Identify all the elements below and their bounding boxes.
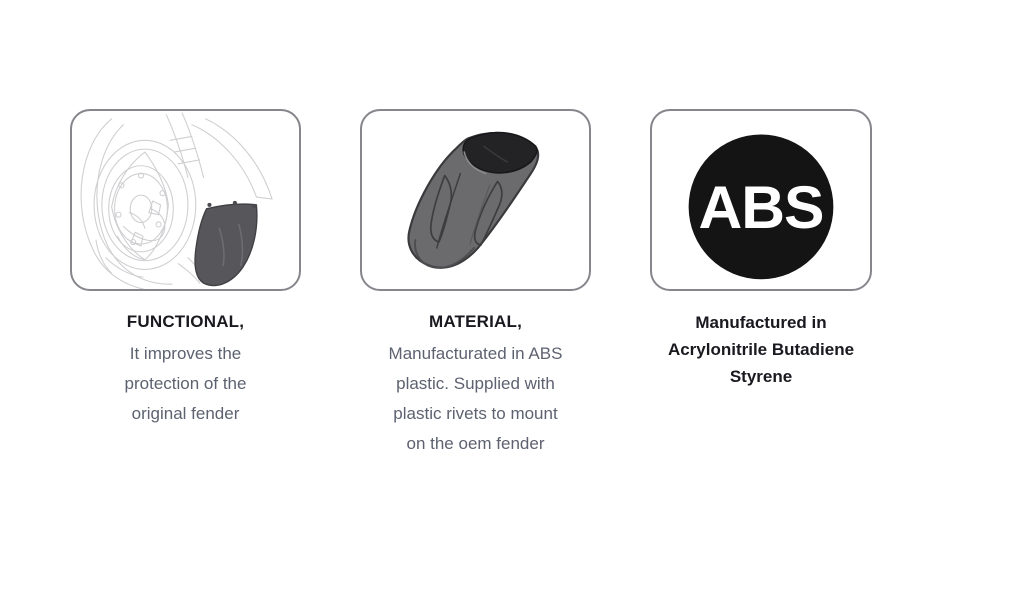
feature-caption: MATERIAL, Manufacturated in ABS plastic.… <box>360 309 591 459</box>
feature-body-line: protection of the <box>70 369 301 399</box>
feature-caption: Manufactured in Acrylonitrile Butadiene … <box>650 309 872 390</box>
feature-body-line: on the oem fender <box>360 429 591 459</box>
product-feature-panel: FUNCTIONAL, It improves the protection o… <box>0 0 1024 614</box>
fender-extender-product-photo-icon <box>362 111 589 289</box>
feature-image-card: ABS <box>650 109 872 291</box>
feature-body-line: Styrene <box>650 363 872 390</box>
feature-title: MATERIAL, <box>360 309 591 334</box>
feature-body-line: Manufacturated in ABS <box>360 339 591 369</box>
feature-body-line: It improves the <box>70 339 301 369</box>
feature-body: Manufacturated in ABS plastic. Supplied … <box>360 339 591 459</box>
abs-badge-text: ABS <box>698 173 823 241</box>
feature-image-card <box>70 109 301 291</box>
feature-body-line: Manufactured in <box>650 309 872 336</box>
feature-caption: FUNCTIONAL, It improves the protection o… <box>70 309 301 429</box>
feature-body-line: plastic rivets to mount <box>360 399 591 429</box>
feature-image-card <box>360 109 591 291</box>
feature-body: Manufactured in Acrylonitrile Butadiene … <box>650 309 872 390</box>
feature-body-line: original fender <box>70 399 301 429</box>
front-wheel-fender-illustration-icon <box>72 111 299 289</box>
feature-card-material: MATERIAL, Manufacturated in ABS plastic.… <box>360 109 591 459</box>
feature-card-abs: ABS Manufactured in Acrylonitrile Butadi… <box>650 109 872 390</box>
feature-body-line: plastic. Supplied with <box>360 369 591 399</box>
features-row: FUNCTIONAL, It improves the protection o… <box>0 0 1024 614</box>
feature-title: FUNCTIONAL, <box>70 309 301 334</box>
feature-card-functional: FUNCTIONAL, It improves the protection o… <box>70 109 301 429</box>
abs-badge-icon: ABS <box>652 111 870 289</box>
feature-body: It improves the protection of the origin… <box>70 339 301 429</box>
feature-body-line: Acrylonitrile Butadiene <box>650 336 872 363</box>
